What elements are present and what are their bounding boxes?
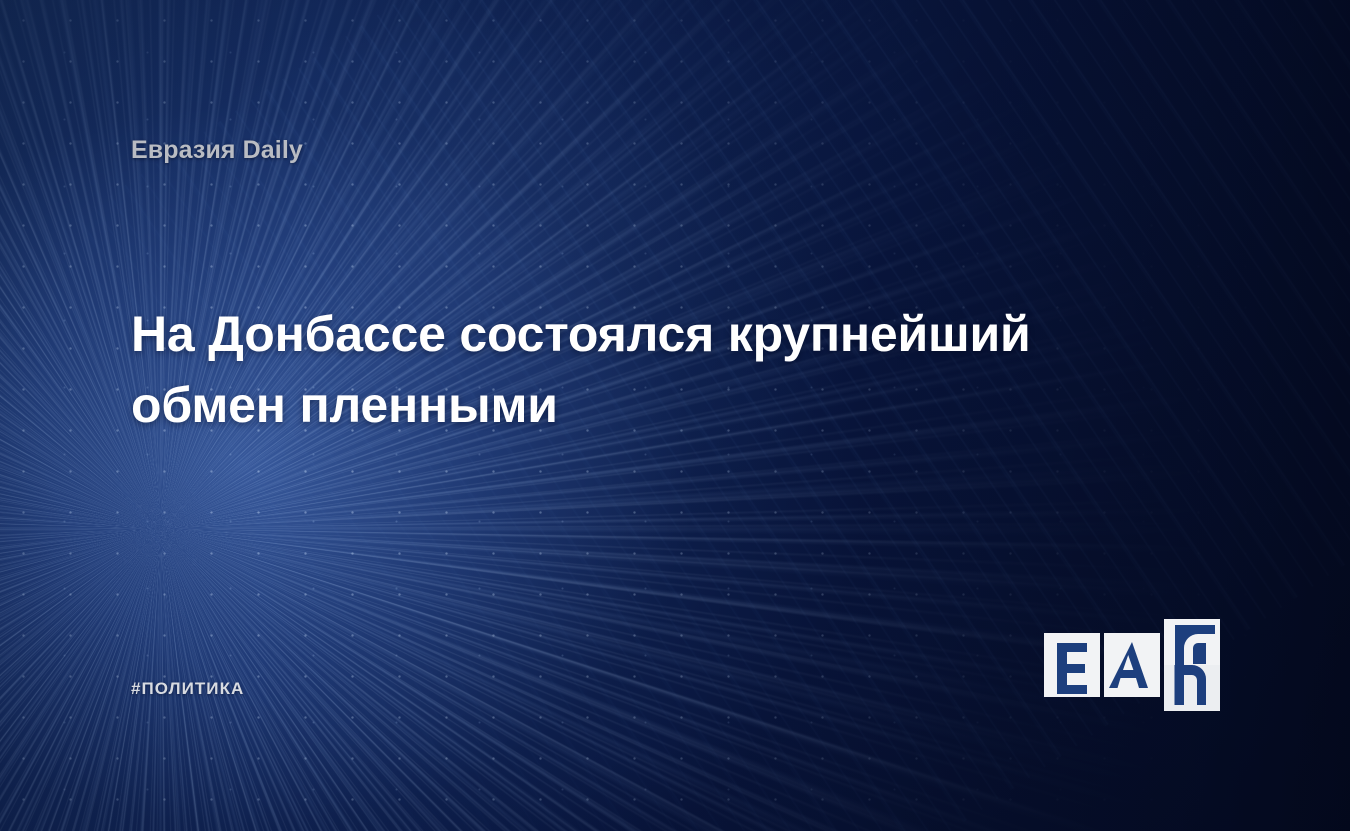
brand-name: Евразия Daily [131, 136, 303, 165]
social-share-card: Евразия Daily На Донбассе состоялся круп… [0, 0, 1350, 831]
logo-tile-d [1164, 619, 1220, 711]
headline-title: На Донбассе состоялся крупнейший обмен п… [131, 299, 1131, 441]
logo-tile-e [1044, 633, 1100, 697]
ead-logo [1044, 619, 1220, 711]
logo-tile-a [1104, 633, 1160, 697]
card-content: Евразия Daily На Донбассе состоялся круп… [0, 0, 1350, 831]
rubric-tag: #ПОЛИТИКА [131, 679, 244, 699]
